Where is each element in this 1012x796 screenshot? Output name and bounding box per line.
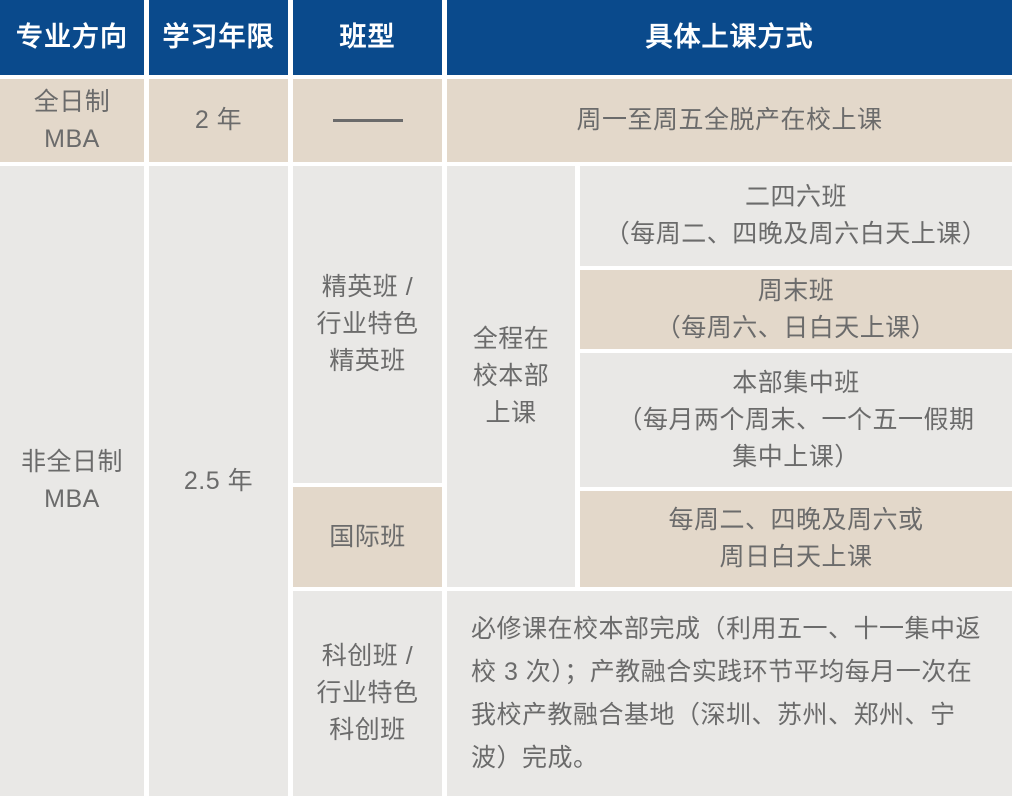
header-cell-class-type: 班型 — [293, 0, 442, 75]
mode-cell-international-class: 每周二、四晚及周六或 周日白天上课 — [580, 491, 1012, 587]
header-cell-mode: 具体上课方式 — [447, 0, 1012, 75]
row-fulltime-class-type — [293, 79, 442, 162]
row-fulltime-direction: 全日制 MBA — [0, 79, 144, 162]
mode-cell-intensive-class: 本部集中班 （每月两个周末、一个五一假期 集中上课） — [580, 353, 1012, 487]
mode-cell-weekend-class: 周末班 （每周六、日白天上课） — [580, 270, 1012, 349]
group-elite-class-type: 精英班 / 行业特色 精英班 — [293, 166, 442, 483]
course-schedule-table: 专业方向 学习年限 班型 具体上课方式 全日制 MBA 2 年 周一至周五全脱产… — [0, 0, 1012, 796]
mode-cell-246-class: 二四六班 （每周二、四晚及周六白天上课） — [580, 166, 1012, 266]
row-fulltime-mode: 周一至周五全脱产在校上课 — [447, 79, 1012, 162]
group-innovation-class-type: 科创班 / 行业特色 科创班 — [293, 591, 442, 796]
header-cell-duration: 学习年限 — [149, 0, 288, 75]
mode-cell-innovation-class: 必修课在校本部完成（利用五一、十一集中返校 3 次）；产教融合实践环节平均每月一… — [447, 591, 1012, 796]
row-parttime-direction: 非全日制 MBA — [0, 166, 144, 796]
group-international-class-type: 国际班 — [293, 487, 442, 587]
header-cell-direction: 专业方向 — [0, 0, 144, 75]
innovation-mode-text: 必修课在校本部完成（利用五一、十一集中返校 3 次）；产教融合实践环节平均每月一… — [453, 608, 1006, 780]
row-parttime-duration: 2.5 年 — [149, 166, 288, 796]
row-fulltime-duration: 2 年 — [149, 79, 288, 162]
em-dash-icon — [333, 119, 403, 122]
group-elite-venue: 全程在 校本部 上课 — [447, 166, 575, 587]
